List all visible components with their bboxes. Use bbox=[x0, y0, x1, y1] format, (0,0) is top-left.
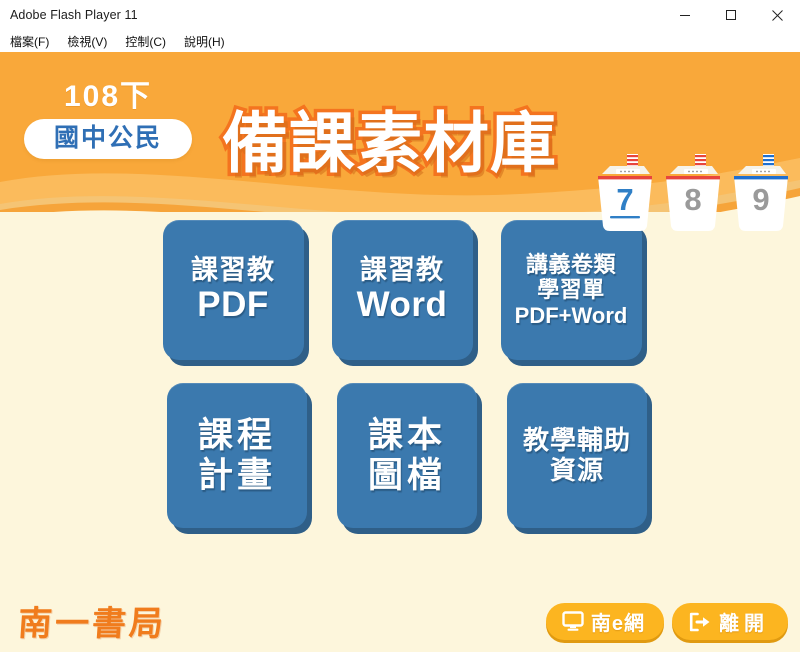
badge-subject-label: 國中公民 bbox=[30, 126, 186, 151]
grade-badge: 108下 國中公民 bbox=[18, 82, 198, 159]
close-icon bbox=[771, 9, 784, 22]
tile-label-line2: 計畫 bbox=[198, 456, 276, 496]
window-title: Adobe Flash Player 11 bbox=[0, 0, 662, 30]
tile-teaching-pdf[interactable]: 課習教 PDF bbox=[163, 220, 304, 360]
boat-icon-7: 7 bbox=[594, 152, 656, 232]
flash-stage: 108下 國中公民 備課素材庫 bbox=[0, 52, 800, 652]
tile-label-line2: 資源 bbox=[550, 456, 604, 486]
minimize-icon bbox=[679, 9, 691, 21]
exit-button[interactable]: 離開 bbox=[672, 603, 788, 640]
grade-tab-9[interactable]: 9 bbox=[730, 152, 792, 232]
tile-course-plan[interactable]: 課程 計畫 bbox=[167, 383, 307, 528]
svg-text:9: 9 bbox=[752, 182, 769, 217]
svg-text:7: 7 bbox=[616, 182, 633, 217]
maximize-button[interactable] bbox=[708, 0, 754, 30]
tile-handouts[interactable]: 講義卷類 學習單 PDF+Word bbox=[501, 220, 642, 360]
monitor-icon bbox=[562, 611, 584, 632]
menu-grid: 課習教 PDF 課習教 Word 講義卷類 學習單 PDF+Word 課程 計畫 bbox=[0, 220, 800, 528]
menu-control[interactable]: 控制(C) bbox=[123, 32, 168, 51]
tile-label-line2: 學習單 bbox=[537, 277, 605, 302]
tile-label-line1: 課程 bbox=[198, 416, 276, 456]
tile-label-line2: Word bbox=[357, 285, 448, 325]
menubar: 檔案(F) 檢視(V) 控制(C) 說明(H) bbox=[0, 30, 800, 52]
boat-icon-8: 8 bbox=[662, 152, 724, 232]
grade-tabs: 7 8 bbox=[594, 152, 792, 232]
tile-teaching-word[interactable]: 課習教 Word bbox=[332, 220, 473, 360]
tile-label-line3: PDF+Word bbox=[515, 303, 628, 328]
tile-row-1: 課習教 PDF 課習教 Word 講義卷類 學習單 PDF+Word bbox=[4, 220, 800, 360]
tile-row-2: 課程 計畫 課本 圖檔 教學輔助 資源 bbox=[14, 383, 800, 528]
titlebar: Adobe Flash Player 11 bbox=[0, 0, 800, 30]
tile-textbook-images[interactable]: 課本 圖檔 bbox=[337, 383, 477, 528]
tile-label-line1: 課習教 bbox=[191, 255, 275, 286]
badge-year-label: 108下 bbox=[18, 82, 198, 112]
close-button[interactable] bbox=[754, 0, 800, 30]
minimize-button[interactable] bbox=[662, 0, 708, 30]
grade-tab-8[interactable]: 8 bbox=[662, 152, 724, 232]
tile-label-line1: 講義卷類 bbox=[526, 252, 616, 277]
exit-label: 離開 bbox=[719, 607, 769, 636]
footer-actions: 南e網 離開 bbox=[546, 603, 788, 640]
tile-label-line1: 課本 bbox=[368, 416, 446, 456]
tile-label-line1: 課習教 bbox=[360, 255, 444, 286]
nani-e-web-button[interactable]: 南e網 bbox=[546, 603, 664, 640]
badge-subject-pill: 國中公民 bbox=[24, 119, 192, 159]
nani-e-web-label: 南e網 bbox=[591, 607, 645, 636]
tile-label-line1: 教學輔助 bbox=[523, 426, 631, 456]
svg-text:8: 8 bbox=[684, 182, 701, 217]
menu-help[interactable]: 說明(H) bbox=[182, 32, 227, 51]
grade-tab-7[interactable]: 7 bbox=[594, 152, 656, 232]
menu-view[interactable]: 檢視(V) bbox=[65, 32, 109, 51]
tile-teaching-support[interactable]: 教學輔助 資源 bbox=[507, 383, 647, 528]
maximize-icon bbox=[725, 9, 737, 21]
tile-label-line2: PDF bbox=[197, 285, 269, 325]
tile-label-line2: 圖檔 bbox=[368, 456, 446, 496]
publisher-logo: 南一書局 bbox=[17, 608, 167, 642]
menu-file[interactable]: 檔案(F) bbox=[8, 32, 51, 51]
boat-icon-9: 9 bbox=[730, 152, 792, 232]
exit-icon bbox=[688, 612, 712, 632]
flash-player-window: Adobe Flash Player 11 檔案(F) 檢視(V) 控制(C) … bbox=[0, 0, 800, 652]
page-title: 備課素材庫 bbox=[222, 110, 557, 176]
